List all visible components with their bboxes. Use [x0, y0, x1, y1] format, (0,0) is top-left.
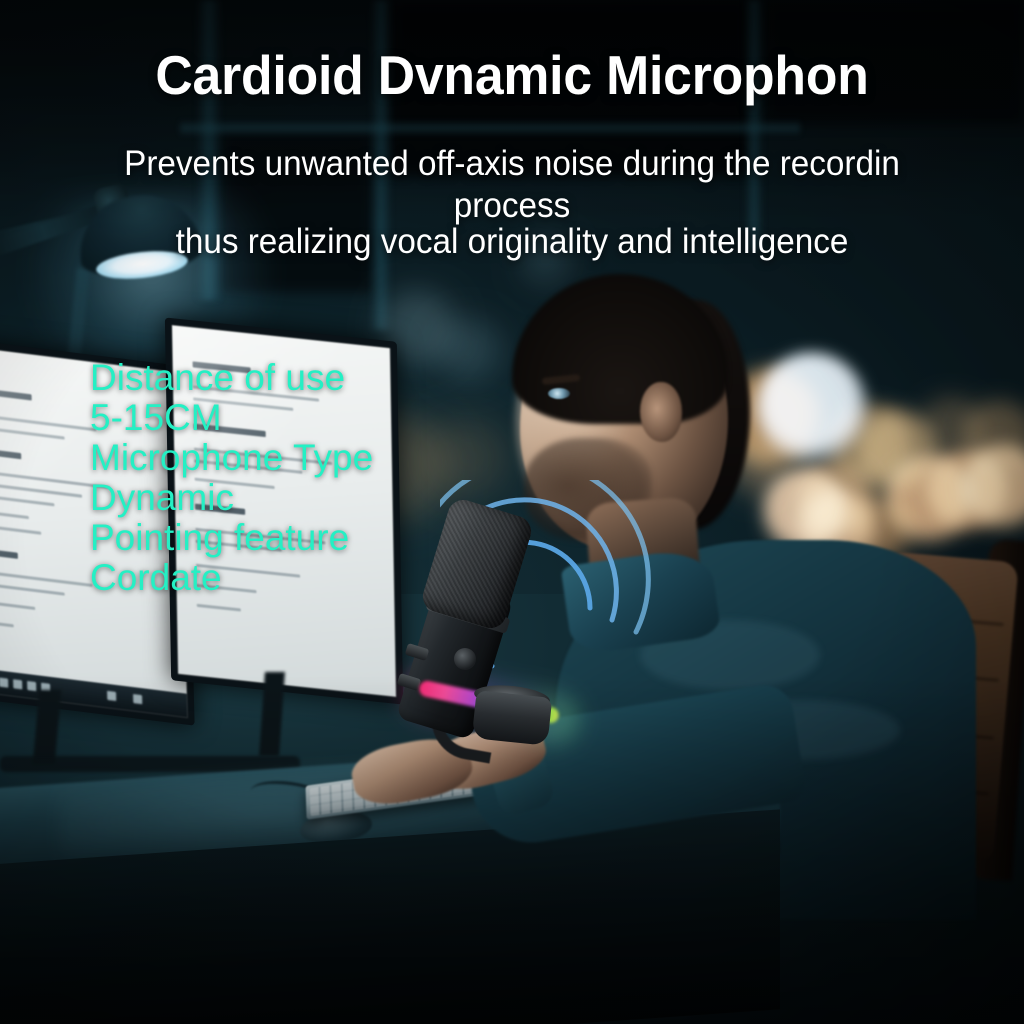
spec-label-mic-type: Microphone Type — [90, 438, 510, 478]
spec-value-mic-type: Dynamic — [90, 478, 510, 518]
person-ear — [640, 382, 682, 442]
spec-value-pointing: Cordate — [90, 558, 510, 598]
page-title: Cardioid Dvnamic Microphon — [31, 46, 994, 104]
subtitle-line-1: Prevents unwanted off-axis noise during … — [26, 146, 999, 181]
microphone-pivot-screw — [454, 648, 476, 670]
spec-value-distance: 5-15CM — [90, 398, 510, 438]
product-banner: Cardioid Dvnamic Microphon Prevents unwa… — [0, 0, 1024, 1024]
microphone-base — [472, 690, 553, 746]
spec-list: Distance of use 5-15CM Microphone Type D… — [90, 358, 510, 598]
window-mullion — [180, 120, 800, 136]
subtitle-line-2: process — [26, 188, 999, 223]
spec-label-distance: Distance of use — [90, 358, 510, 398]
person-eye — [548, 388, 570, 399]
spec-label-pointing: Pointing feature — [90, 518, 510, 558]
subtitle-line-3: thus realizing vocal originality and int… — [26, 224, 999, 259]
